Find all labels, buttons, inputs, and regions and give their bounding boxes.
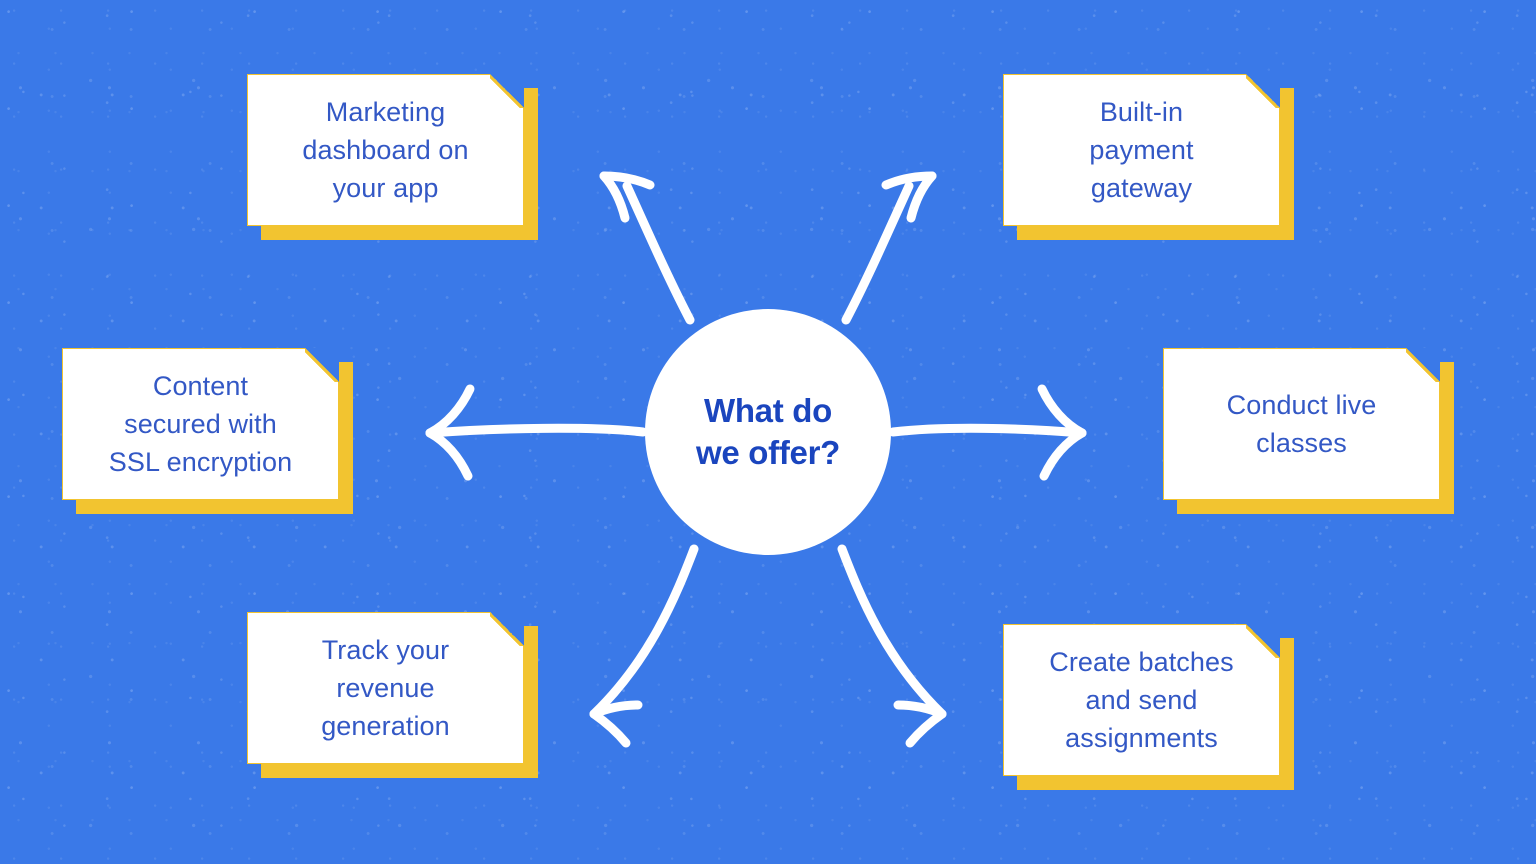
card-label: Track your revenue generation bbox=[247, 612, 524, 764]
center-hub-title: What do we offer? bbox=[696, 390, 840, 474]
card-batches[interactable]: Create batches and send assignments bbox=[1003, 624, 1280, 776]
arrow-up-left-icon bbox=[604, 176, 690, 320]
arrow-right-icon bbox=[893, 389, 1082, 476]
card-live-classes[interactable]: Conduct live classes bbox=[1163, 348, 1440, 500]
card-label: Content secured with SSL encryption bbox=[62, 348, 339, 500]
card-payment[interactable]: Built-in payment gateway bbox=[1003, 74, 1280, 226]
card-revenue[interactable]: Track your revenue generation bbox=[247, 612, 524, 764]
mindmap-canvas: What do we offer? Marketing dashboard on… bbox=[0, 0, 1536, 864]
card-label: Conduct live classes bbox=[1163, 348, 1440, 500]
center-hub: What do we offer? bbox=[645, 309, 891, 555]
card-label: Create batches and send assignments bbox=[1003, 624, 1280, 776]
arrow-left-icon bbox=[430, 389, 643, 476]
card-marketing[interactable]: Marketing dashboard on your app bbox=[247, 74, 524, 226]
card-ssl[interactable]: Content secured with SSL encryption bbox=[62, 348, 339, 500]
card-label: Marketing dashboard on your app bbox=[247, 74, 524, 226]
card-label: Built-in payment gateway bbox=[1003, 74, 1280, 226]
arrow-up-right-icon bbox=[846, 176, 932, 320]
arrow-down-right-icon bbox=[842, 549, 942, 743]
arrow-down-left-icon bbox=[594, 549, 694, 743]
